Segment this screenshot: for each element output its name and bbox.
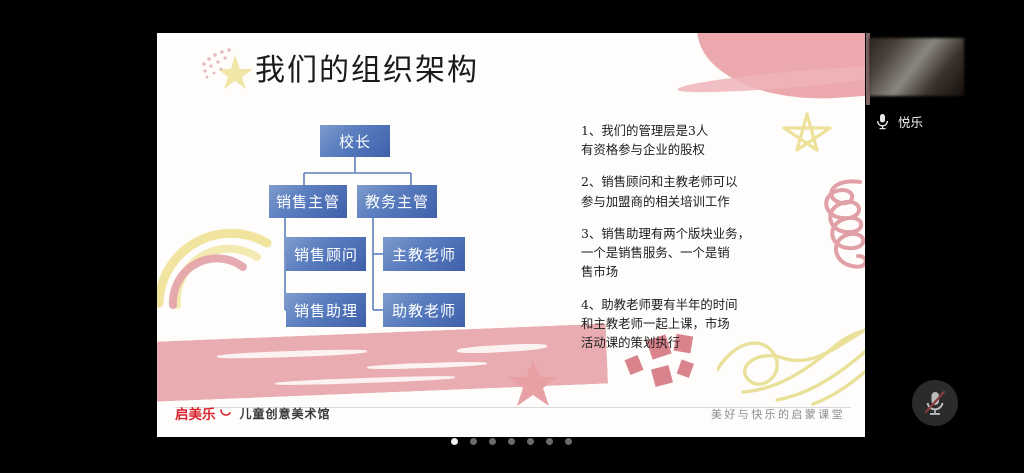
pagination-dot[interactable] [527, 438, 534, 445]
pagination-dot[interactable] [508, 438, 515, 445]
logo-wordmark: 启美乐 [175, 403, 216, 423]
slide-pagination[interactable] [157, 433, 865, 449]
org-node-lead-teacher[interactable]: 主教老师 [383, 237, 465, 271]
org-node-sales-manager[interactable]: 销售主管 [269, 185, 347, 218]
logo-smile-icon [220, 408, 231, 419]
org-node-academic-manager[interactable]: 教务主管 [357, 185, 437, 218]
slide-footer: 启美乐 儿童创意美术馆 美好与快乐的启蒙课堂 [157, 403, 865, 429]
pagination-dot[interactable] [565, 438, 572, 445]
org-node-sales-assistant[interactable]: 销售助理 [286, 293, 366, 327]
bullet-item: 1、我们的管理层是3人 有资格参与企业的股权 [581, 121, 811, 159]
pagination-dot[interactable] [546, 438, 553, 445]
microphone-muted-icon [923, 389, 947, 417]
org-node-principal[interactable]: 校长 [320, 125, 390, 157]
meeting-screen-share-view: 我们的组织架构 校长 销售主管 教务主管 销售顾问 [0, 0, 1024, 473]
participant-name: 悦乐 [898, 112, 923, 131]
bullet-item: 3、销售助理有两个版块业务， 一个是销售服务、一个是销 售市场 [581, 224, 811, 282]
logo-subtitle: 儿童创意美术馆 [240, 405, 331, 422]
pagination-dot[interactable] [470, 438, 477, 445]
org-node-assistant-teacher[interactable]: 助教老师 [383, 293, 465, 327]
pagination-dot[interactable] [451, 438, 458, 445]
slide-tagline: 美好与快乐的启蒙课堂 [711, 406, 845, 422]
microphone-icon [876, 113, 889, 130]
slide-bullet-list: 1、我们的管理层是3人 有资格参与企业的股权 2、销售顾问和主教老师可以 参与加… [581, 121, 811, 365]
pagination-dot[interactable] [489, 438, 496, 445]
brand-logo: 启美乐 儿童创意美术馆 [175, 403, 331, 423]
participant-video-tile[interactable] [869, 38, 964, 96]
bullet-item: 2、销售顾问和主教老师可以 参与加盟商的相关培训工作 [581, 172, 811, 210]
mute-toggle-button[interactable] [912, 380, 958, 426]
org-node-sales-consultant[interactable]: 销售顾问 [286, 237, 366, 271]
participant-row[interactable]: 悦乐 [876, 112, 923, 131]
bullet-item: 4、助教老师要有半年的时间 和主教老师一起上课，市场 活动课的策划执行 [581, 295, 811, 353]
presentation-slide[interactable]: 我们的组织架构 校长 销售主管 教务主管 销售顾问 [157, 33, 865, 437]
